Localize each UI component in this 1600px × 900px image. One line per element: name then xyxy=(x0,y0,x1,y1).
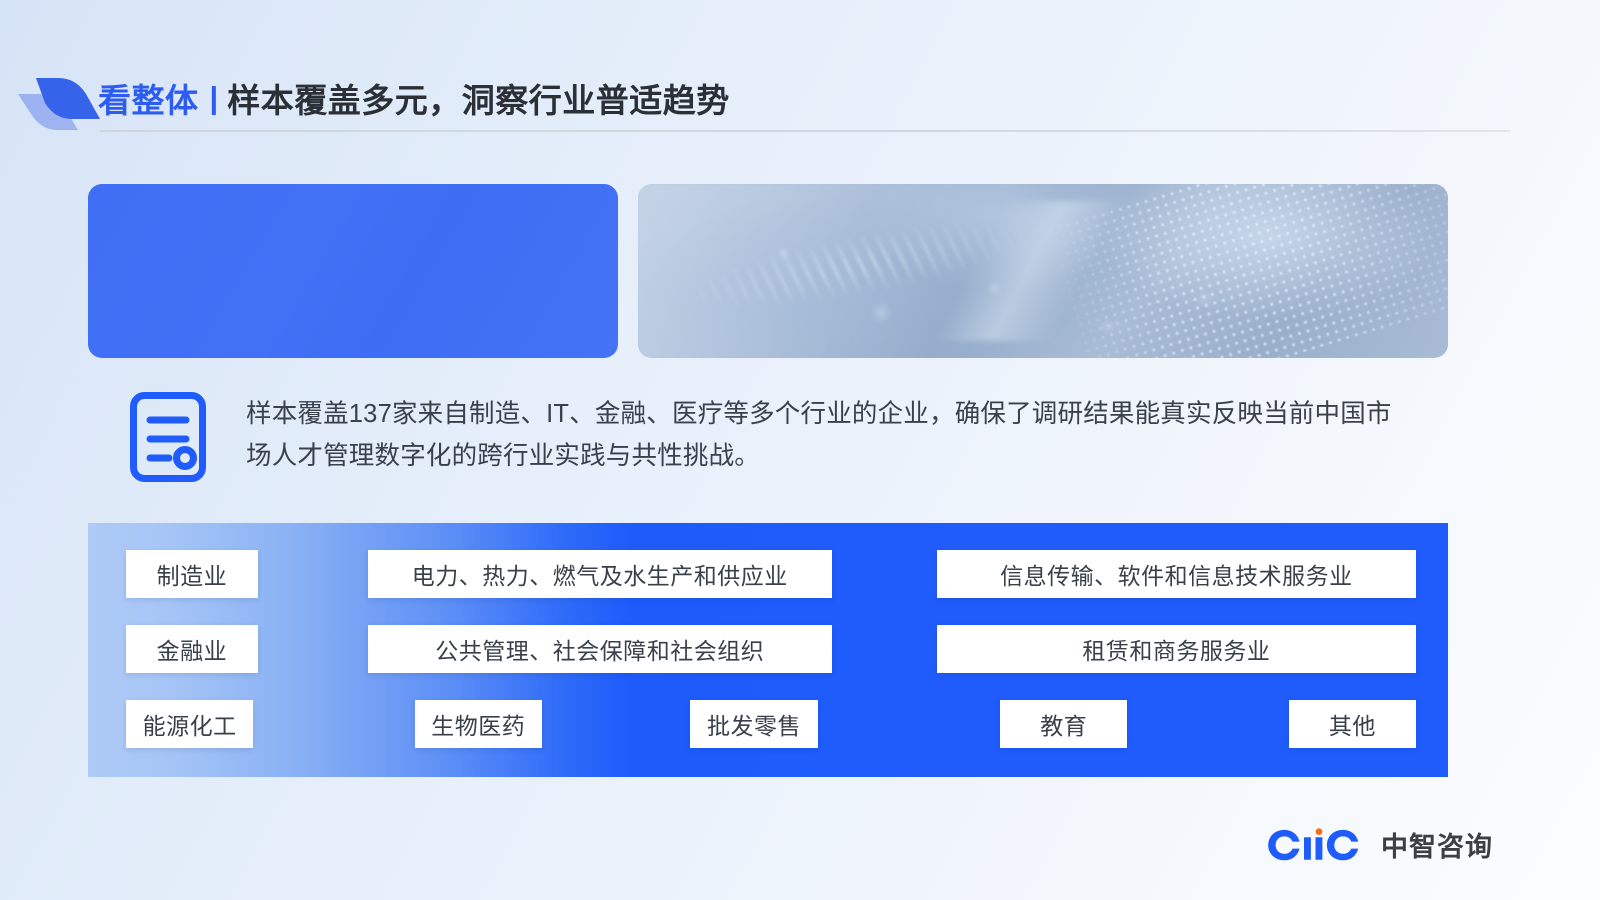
industry-tag[interactable]: 信息传输、软件和信息技术服务业 xyxy=(937,550,1416,598)
blue-placeholder-card xyxy=(88,184,618,358)
industry-row-1: 制造业 电力、热力、燃气及水生产和供应业 信息传输、软件和信息技术服务业 xyxy=(88,548,1448,601)
title-divider: | xyxy=(210,80,219,116)
title-accent-text: 看整体 xyxy=(98,74,199,122)
industry-tag[interactable]: 金融业 xyxy=(126,625,258,673)
brand-logo: 中智咨询 xyxy=(1267,828,1493,862)
summary-block: 样本覆盖137家来自制造、IT、金融、医疗等多个行业的企业，确保了调研结果能真实… xyxy=(88,383,1448,501)
slide-root: 看整体 | 样本覆盖多元，洞察行业普适趋势 样本覆盖 xyxy=(0,0,1600,900)
industry-tag[interactable]: 电力、热力、燃气及水生产和供应业 xyxy=(368,550,832,598)
industry-tag-panel: 制造业 电力、热力、燃气及水生产和供应业 信息传输、软件和信息技术服务业 金融业… xyxy=(88,523,1448,777)
industry-tag[interactable]: 公共管理、社会保障和社会组织 xyxy=(368,625,832,673)
header-swoosh-icon xyxy=(14,72,100,132)
brand-logo-text: 中智咨询 xyxy=(1381,832,1493,862)
photo-tint-overlay xyxy=(638,184,1448,358)
document-list-icon xyxy=(129,391,207,483)
industry-row-2: 金融业 公共管理、社会保障和社会组织 租赁和商务服务业 xyxy=(88,623,1448,676)
industry-tag[interactable]: 其他 xyxy=(1289,700,1416,748)
industry-tag[interactable]: 批发零售 xyxy=(690,700,817,748)
industry-tag[interactable]: 教育 xyxy=(1000,700,1127,748)
circuit-board-photo xyxy=(638,184,1448,358)
industry-tag[interactable]: 生物医药 xyxy=(415,700,542,748)
industry-tag[interactable]: 能源化工 xyxy=(126,700,253,748)
summary-text: 样本覆盖137家来自制造、IT、金融、医疗等多个行业的企业，确保了调研结果能真实… xyxy=(246,393,1396,477)
title-main-text: 样本覆盖多元，洞察行业普适趋势 xyxy=(227,74,730,122)
header-divider-line xyxy=(100,130,1510,132)
industry-tag[interactable]: 租赁和商务服务业 xyxy=(937,625,1416,673)
industry-row-3: 能源化工 生物医药 批发零售 教育 其他 xyxy=(88,697,1448,750)
media-band xyxy=(88,184,1448,358)
industry-tag[interactable]: 制造业 xyxy=(126,550,258,598)
ciic-logomark-icon xyxy=(1267,828,1371,862)
slide-header: 看整体 | 样本覆盖多元，洞察行业普适趋势 xyxy=(0,62,1600,142)
page-title: 看整体 | 样本覆盖多元，洞察行业普适趋势 xyxy=(98,66,730,130)
